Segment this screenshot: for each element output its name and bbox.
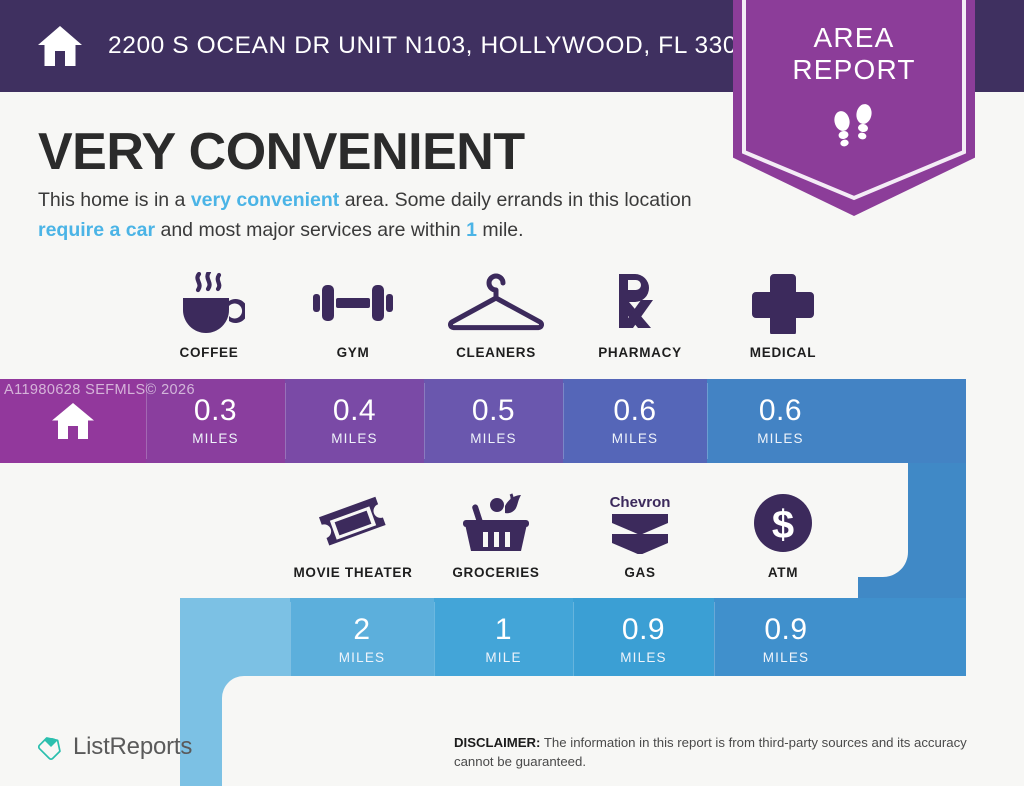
bar1-divider-3 (424, 383, 425, 459)
badge-title: AREA REPORT (733, 22, 975, 85)
desc-part-1: This home is in a (38, 189, 191, 211)
movie-ticket-icon (317, 492, 389, 554)
bar1-value-medical: 0.6 (759, 396, 802, 426)
bar1-segment-gym: 0.4 MILES (285, 379, 424, 463)
bar1-value-gym: 0.4 (333, 396, 376, 426)
poi-icon-movie-theater: MOVIE THEATER (294, 492, 412, 580)
grocery-basket-icon (459, 492, 533, 554)
badge-line-1: AREA (733, 22, 975, 54)
bar1-unit-medical: MILES (757, 431, 804, 446)
bar2-value-movie-theater: 2 (353, 615, 370, 645)
bar1-divider-2 (285, 383, 286, 459)
desc-highlight-miles: 1 (466, 219, 477, 241)
bar1-value-coffee: 0.3 (194, 396, 237, 426)
page-title: VERY CONVENIENT (38, 122, 525, 182)
bar2-value-groceries: 1 (495, 615, 512, 645)
desc-part-2: area. Some daily errands in this locatio… (339, 189, 691, 211)
bar1-unit-pharmacy: MILES (612, 431, 659, 446)
poi-label-movie-theater: MOVIE THEATER (293, 565, 412, 580)
bar2-unit-gas: MILES (620, 650, 667, 665)
poi-icon-pharmacy: PHARMACY (581, 272, 699, 360)
chevron-gas-icon: Chevron (606, 492, 674, 554)
rx-icon (609, 272, 671, 334)
bar2-unit-movie-theater: MILES (339, 650, 386, 665)
desc-highlight-car: require a car (38, 219, 155, 241)
bar2-divider-4 (714, 602, 715, 677)
badge-line-2: REPORT (733, 54, 975, 86)
desc-part-3: and most major services are within (155, 219, 466, 241)
poi-icon-gym: GYM (294, 272, 412, 360)
bar2-unit-atm: MILES (763, 650, 810, 665)
footprints-icon (828, 104, 880, 156)
poi-label-medical: MEDICAL (750, 345, 816, 360)
disclaimer-label: DISCLAIMER: (454, 735, 540, 750)
bar2-segment-gas: 0.9 MILES (573, 598, 714, 682)
bar2-value-atm: 0.9 (764, 615, 807, 645)
bar2-divider-1 (290, 602, 291, 677)
poi-label-atm: ATM (768, 565, 798, 580)
listreports-logo: ListReports (38, 733, 192, 761)
bar1-value-pharmacy: 0.6 (613, 396, 656, 426)
desc-highlight-convenient: very convenient (191, 189, 339, 211)
home-icon (50, 401, 96, 441)
bar1-segment-medical: 0.6 MILES (707, 379, 966, 463)
poi-icon-coffee: COFFEE (150, 272, 268, 360)
poi-label-groceries: GROCERIES (452, 565, 539, 580)
property-address: 2200 S OCEAN DR UNIT N103, HOLLYWOOD, FL… (108, 32, 766, 60)
bar1-divider-4 (563, 383, 564, 459)
poi-label-gas: GAS (624, 565, 655, 580)
poi-icon-gas: Chevron GAS (581, 492, 699, 580)
gas-brand-label: Chevron (610, 494, 671, 511)
coffee-cup-icon (173, 272, 245, 334)
bar2-divider-2 (434, 602, 435, 677)
dollar-circle-icon: $ (752, 492, 814, 554)
distance-bar-row2: 2 MILES 1 MILE 0.9 MILES 0.9 MILES (180, 598, 966, 681)
area-report-infographic: 2200 S OCEAN DR UNIT N103, HOLLYWOOD, FL… (0, 0, 1024, 786)
poi-label-coffee: COFFEE (180, 345, 239, 360)
page-description: This home is in a very convenient area. … (38, 186, 728, 245)
listreports-logo-text: ListReports (73, 733, 192, 761)
poi-label-gym: GYM (337, 345, 370, 360)
disclaimer: DISCLAIMER: The information in this repo… (454, 733, 994, 771)
medical-cross-icon (752, 272, 814, 334)
desc-part-4: mile. (477, 219, 524, 241)
bar1-unit-gym: MILES (331, 431, 378, 446)
listreports-house-icon (38, 734, 64, 760)
home-icon (36, 24, 84, 68)
poi-icon-groceries: GROCERIES (437, 492, 555, 580)
bar2-divider-3 (573, 602, 574, 677)
dumbbell-icon (311, 272, 395, 334)
bar2-segment-atm: 0.9 MILES (714, 598, 966, 682)
poi-icon-medical: MEDICAL (724, 272, 842, 360)
bar2-start-segment (180, 598, 290, 682)
poi-label-cleaners: CLEANERS (456, 345, 536, 360)
bar1-value-cleaners: 0.5 (472, 396, 515, 426)
poi-icon-atm: $ ATM (724, 492, 842, 580)
bar1-unit-cleaners: MILES (470, 431, 517, 446)
clothes-hanger-icon (446, 272, 546, 334)
bar2-segment-movie-theater: 2 MILES (290, 598, 434, 682)
area-report-badge: AREA REPORT (733, 0, 975, 216)
bar1-segment-pharmacy: 0.6 MILES (563, 379, 707, 463)
bar1-divider-5 (707, 383, 708, 459)
mls-watermark: A11980628 SEFMLS© 2026 (4, 382, 195, 398)
svg-text:$: $ (772, 503, 794, 547)
bar1-segment-cleaners: 0.5 MILES (424, 379, 563, 463)
bar2-value-gas: 0.9 (622, 615, 665, 645)
poi-icon-cleaners: CLEANERS (437, 272, 555, 360)
poi-label-pharmacy: PHARMACY (598, 345, 682, 360)
bar2-unit-groceries: MILE (485, 650, 521, 665)
bar1-unit-coffee: MILES (192, 431, 239, 446)
bar2-segment-groceries: 1 MILE (434, 598, 573, 682)
